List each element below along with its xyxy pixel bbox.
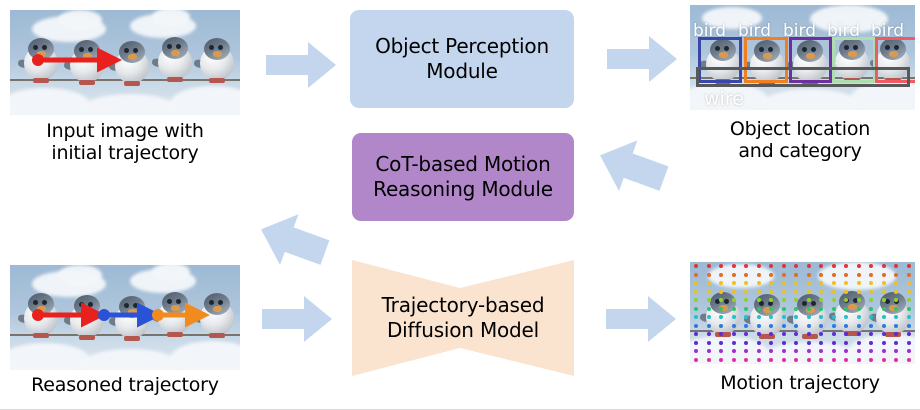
motion-grid-dot (732, 358, 736, 362)
motion-grid-dot (882, 324, 886, 328)
motion-grid-dot (694, 315, 698, 319)
motion-grid-dot (882, 273, 886, 277)
motion-grid-dot (819, 273, 823, 277)
motion-grid-dot (857, 349, 861, 353)
motion-grid-dot (757, 358, 761, 362)
motion-grid-dot (732, 332, 736, 336)
motion-grid-dot (794, 341, 798, 345)
motion-grid-dot (819, 341, 823, 345)
motion-caption-line1: Motion trajectory (680, 372, 920, 394)
detection-caption-line1: Object location (680, 118, 920, 140)
motion-grid-dot (744, 290, 748, 294)
motion-grid-dot (882, 264, 886, 268)
motion-grid-dot (869, 264, 873, 268)
diffusion-line1: Trajectory-based (382, 293, 545, 318)
motion-grid-dot (907, 290, 911, 294)
motion-grid-dot (719, 273, 723, 277)
motion-grid-dot (719, 324, 723, 328)
motion-grid-dot (894, 341, 898, 345)
motion-grid-dot (819, 349, 823, 353)
arrow-input-to-perception (266, 42, 338, 88)
motion-grid-dot (807, 281, 811, 285)
motion-grid-dot (782, 341, 786, 345)
module-cot-reasoning[interactable]: CoT-based Motion Reasoning Module (352, 133, 574, 221)
motion-grid-dot (869, 349, 873, 353)
motion-grid-dot (857, 315, 861, 319)
reasoned-trajectory-arrows (10, 265, 240, 370)
motion-grid-dot (894, 264, 898, 268)
motion-grid-dot (807, 332, 811, 336)
motion-grid-dot (757, 298, 761, 302)
motion-caption: Motion trajectory (680, 372, 920, 394)
motion-grid-dot (769, 264, 773, 268)
motion-grid-dot (694, 332, 698, 336)
motion-grid-dot (807, 315, 811, 319)
motion-grid-dot (707, 324, 711, 328)
motion-grid-dot (819, 298, 823, 302)
motion-grid-dot (757, 349, 761, 353)
motion-grid-dot (769, 315, 773, 319)
motion-grid-dot (769, 281, 773, 285)
motion-grid-dot (819, 358, 823, 362)
module-object-perception[interactable]: Object Perception Module (350, 10, 574, 108)
motion-grid-dot (844, 358, 848, 362)
motion-grid-dot (794, 264, 798, 268)
motion-grid-dot (844, 307, 848, 311)
motion-grid-dot (807, 264, 811, 268)
motion-grid-dot (832, 358, 836, 362)
motion-grid-dot (844, 273, 848, 277)
motion-grid-dot (907, 341, 911, 345)
motion-grid-dot (769, 341, 773, 345)
motion-grid-dot (707, 290, 711, 294)
motion-grid-dot (732, 315, 736, 319)
motion-grid-dot (807, 298, 811, 302)
motion-grid-dot (757, 281, 761, 285)
arrow-perception-to-detection (607, 36, 679, 82)
motion-grid-dot (769, 332, 773, 336)
motion-grid-dot (844, 341, 848, 345)
motion-grid-dot (707, 281, 711, 285)
motion-grid-dot (807, 349, 811, 353)
motion-grid-dot (807, 341, 811, 345)
motion-grid-dot (732, 273, 736, 277)
motion-grid-dot (769, 349, 773, 353)
motion-grid-dot (707, 358, 711, 362)
motion-grid-dot (882, 307, 886, 311)
motion-grid-dot (857, 332, 861, 336)
motion-grid-dot (719, 264, 723, 268)
motion-grid-dot (832, 315, 836, 319)
perception-line2: Module (375, 59, 549, 84)
motion-grid-dot (907, 358, 911, 362)
motion-grid-dot (857, 341, 861, 345)
motion-grid-dot (707, 341, 711, 345)
motion-grid-dot (732, 298, 736, 302)
motion-grid-dot (719, 290, 723, 294)
motion-grid-dot (832, 273, 836, 277)
motion-grid-dot (869, 290, 873, 294)
motion-grid-dot (794, 298, 798, 302)
motion-grid-dot (807, 358, 811, 362)
motion-grid-dot (757, 264, 761, 268)
motion-grid-dot (732, 349, 736, 353)
motion-grid-dot (844, 324, 848, 328)
detection-caption-line2: and category (680, 140, 920, 162)
motion-grid-dot (882, 358, 886, 362)
motion-grid-dot (744, 358, 748, 362)
motion-grid-dot (719, 349, 723, 353)
detection-label: bird (871, 21, 904, 41)
motion-grid-dot (732, 341, 736, 345)
motion-grid-dot (744, 264, 748, 268)
motion-grid-dot (807, 324, 811, 328)
motion-grid-dot (894, 273, 898, 277)
wire-detection-box (696, 67, 910, 87)
motion-grid-dot (832, 324, 836, 328)
motion-grid-dot (882, 290, 886, 294)
reasoned-image-panel (10, 265, 240, 370)
pipeline-figure: Input image with initial trajectory Obje… (0, 0, 920, 410)
motion-grid-dot (857, 264, 861, 268)
motion-grid-dot (869, 273, 873, 277)
motion-grid-dot (719, 281, 723, 285)
motion-grid-dot (907, 315, 911, 319)
module-diffusion-label: Trajectory-based Diffusion Model (348, 256, 578, 380)
motion-grid-dot (707, 332, 711, 336)
motion-grid-dot (857, 273, 861, 277)
motion-grid-dot (819, 332, 823, 336)
motion-grid-dot (732, 307, 736, 311)
motion-grid-dot (694, 264, 698, 268)
motion-grid-dot (707, 273, 711, 277)
motion-grid-dot (832, 307, 836, 311)
motion-grid-dot (757, 332, 761, 336)
arrow-detection-to-cot (592, 128, 672, 206)
motion-grid-dot (782, 298, 786, 302)
motion-grid-dot (782, 332, 786, 336)
motion-grid-dot (832, 281, 836, 285)
motion-grid-dot (807, 290, 811, 294)
motion-grid-dot (907, 273, 911, 277)
motion-grid-dot (757, 315, 761, 319)
motion-grid-dot (832, 332, 836, 336)
motion-grid-dot (907, 332, 911, 336)
input-image-panel (10, 10, 240, 115)
detection-label: bird (827, 21, 860, 41)
motion-grid-dot (744, 315, 748, 319)
motion-grid-dot (819, 324, 823, 328)
motion-grid-dot (694, 298, 698, 302)
motion-grid-dot (757, 307, 761, 311)
perception-line1: Object Perception (375, 34, 549, 59)
motion-grid-dot (744, 281, 748, 285)
motion-grid-dot (794, 273, 798, 277)
motion-grid-dot (819, 290, 823, 294)
motion-grid-dot (857, 290, 861, 294)
motion-grid-dot (857, 298, 861, 302)
motion-grid-dot (719, 341, 723, 345)
detection-image-panel: bird bird bird bird bird wire (690, 5, 915, 110)
motion-grid-dot (894, 290, 898, 294)
motion-grid-dot (832, 264, 836, 268)
motion-grid-dot (782, 358, 786, 362)
motion-grid-dot (869, 315, 873, 319)
motion-grid-dot (894, 281, 898, 285)
motion-grid-dot (894, 315, 898, 319)
motion-grid-dot (769, 324, 773, 328)
motion-grid-dot (907, 349, 911, 353)
motion-grid-dot (782, 307, 786, 311)
motion-grid-dot (869, 281, 873, 285)
motion-grid-dot (707, 315, 711, 319)
wire-detection-label: wire (704, 88, 744, 110)
motion-grid-dot (894, 324, 898, 328)
motion-grid-dot (782, 273, 786, 277)
motion-grid-dot (882, 349, 886, 353)
motion-grid-dot (832, 341, 836, 345)
motion-grid-dot (844, 332, 848, 336)
motion-grid-dot (794, 290, 798, 294)
motion-grid-dot (794, 281, 798, 285)
motion-grid-dot (744, 307, 748, 311)
arrow-diffusion-to-motion (606, 296, 678, 342)
motion-grid-dot (857, 358, 861, 362)
motion-grid-dot (782, 290, 786, 294)
motion-grid-dot (857, 281, 861, 285)
motion-grid-dot (857, 324, 861, 328)
motion-grid-dot (744, 273, 748, 277)
detection-label: bird (738, 21, 771, 41)
motion-grid-dot (694, 290, 698, 294)
input-caption-line1: Input image with (0, 120, 250, 142)
motion-grid-dot (694, 349, 698, 353)
diffusion-line2: Diffusion Model (382, 318, 545, 343)
detection-caption: Object location and category (680, 118, 920, 163)
motion-grid-dot (732, 324, 736, 328)
motion-grid-dot (869, 341, 873, 345)
motion-grid-dot (794, 324, 798, 328)
motion-grid-dot (757, 273, 761, 277)
motion-grid-dot (744, 298, 748, 302)
motion-grid-dot (719, 315, 723, 319)
motion-grid-dot (757, 324, 761, 328)
motion-grid-dot (707, 264, 711, 268)
motion-grid-dot (832, 290, 836, 294)
motion-grid-dot (707, 298, 711, 302)
motion-grid-dot (719, 332, 723, 336)
motion-grid-dot (694, 341, 698, 345)
motion-grid-dot (882, 298, 886, 302)
motion-grid-dot (819, 264, 823, 268)
motion-grid-dot (707, 307, 711, 311)
motion-trajectory-grid (690, 262, 915, 364)
motion-grid-dot (844, 264, 848, 268)
motion-grid-dot (694, 358, 698, 362)
motion-grid-dot (794, 307, 798, 311)
motion-grid-dot (844, 290, 848, 294)
initial-trajectory-arrow (10, 10, 240, 115)
motion-grid-dot (882, 341, 886, 345)
motion-grid-dot (694, 273, 698, 277)
input-caption-line2: initial trajectory (0, 142, 250, 164)
cot-line2: Reasoning Module (373, 177, 553, 202)
motion-grid-dot (894, 349, 898, 353)
motion-grid-dot (794, 358, 798, 362)
motion-grid-dot (782, 315, 786, 319)
motion-grid-dot (694, 281, 698, 285)
motion-grid-dot (794, 315, 798, 319)
motion-grid-dot (869, 332, 873, 336)
input-image-caption: Input image with initial trajectory (0, 120, 250, 165)
reasoned-caption-line1: Reasoned trajectory (0, 374, 250, 396)
motion-grid-dot (819, 315, 823, 319)
motion-grid-dot (732, 264, 736, 268)
motion-grid-dot (907, 324, 911, 328)
motion-grid-dot (769, 273, 773, 277)
motion-grid-dot (694, 307, 698, 311)
motion-grid-dot (719, 358, 723, 362)
motion-grid-dot (907, 281, 911, 285)
motion-grid-dot (882, 315, 886, 319)
motion-grid-dot (844, 315, 848, 319)
motion-grid-dot (857, 307, 861, 311)
motion-grid-dot (719, 298, 723, 302)
motion-grid-dot (869, 307, 873, 311)
motion-grid-dot (882, 332, 886, 336)
arrow-reasoned-to-diffusion (262, 296, 334, 342)
motion-grid-dot (757, 290, 761, 294)
motion-grid-dot (844, 281, 848, 285)
cot-line1: CoT-based Motion (373, 152, 553, 177)
motion-grid-dot (769, 298, 773, 302)
motion-grid-dot (807, 307, 811, 311)
motion-grid-dot (782, 349, 786, 353)
motion-grid-dot (744, 349, 748, 353)
motion-grid-dot (894, 307, 898, 311)
reasoned-caption: Reasoned trajectory (0, 374, 250, 396)
motion-grid-dot (782, 264, 786, 268)
motion-grid-dot (744, 324, 748, 328)
motion-grid-dot (907, 298, 911, 302)
detection-label: bird (783, 21, 816, 41)
motion-grid-dot (744, 332, 748, 336)
motion-grid-dot (794, 332, 798, 336)
motion-grid-dot (782, 281, 786, 285)
motion-grid-dot (869, 298, 873, 302)
detection-label: bird (693, 21, 726, 41)
motion-grid-dot (694, 324, 698, 328)
motion-grid-dot (844, 298, 848, 302)
motion-grid-dot (894, 298, 898, 302)
motion-grid-dot (807, 273, 811, 277)
motion-grid-dot (869, 324, 873, 328)
motion-grid-dot (907, 307, 911, 311)
motion-grid-dot (744, 341, 748, 345)
motion-grid-dot (894, 332, 898, 336)
motion-grid-dot (907, 264, 911, 268)
motion-grid-dot (832, 349, 836, 353)
motion-grid-dot (719, 307, 723, 311)
motion-grid-dot (844, 349, 848, 353)
motion-grid-dot (782, 324, 786, 328)
motion-grid-dot (869, 358, 873, 362)
motion-grid-dot (769, 307, 773, 311)
motion-image-panel (690, 262, 915, 364)
motion-grid-dot (794, 349, 798, 353)
motion-grid-dot (819, 307, 823, 311)
motion-grid-dot (769, 290, 773, 294)
motion-grid-dot (832, 298, 836, 302)
motion-grid-dot (757, 341, 761, 345)
motion-grid-dot (894, 358, 898, 362)
arrow-cot-to-diffusion (253, 202, 333, 280)
motion-grid-dot (882, 281, 886, 285)
motion-grid-dot (769, 358, 773, 362)
motion-grid-dot (732, 290, 736, 294)
motion-grid-dot (707, 349, 711, 353)
motion-grid-dot (732, 281, 736, 285)
motion-grid-dot (819, 281, 823, 285)
